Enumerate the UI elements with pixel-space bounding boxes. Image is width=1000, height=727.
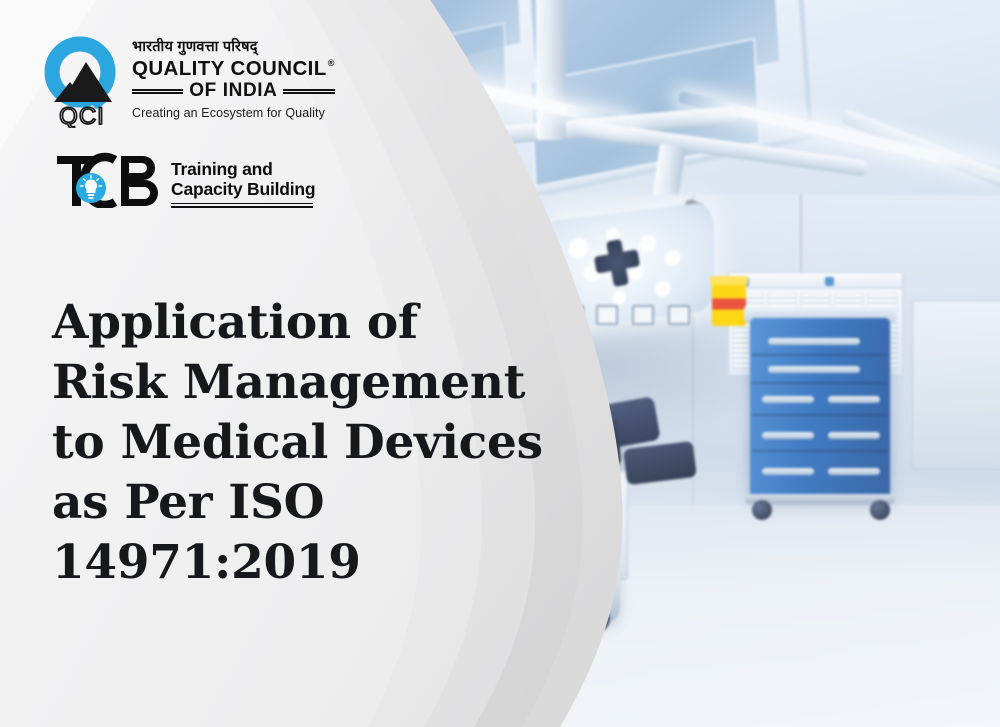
sharps-container — [712, 282, 746, 326]
title-line: to Medical Devices — [52, 413, 552, 473]
qci-logomark-icon: QCI — [44, 36, 120, 128]
wall-outlet — [596, 305, 618, 325]
qci-name-line1: QUALITY COUNCIL ® — [132, 58, 335, 80]
table-caster — [584, 606, 610, 632]
cart-drawer-handle — [828, 396, 880, 403]
cart-drawer-handle — [768, 366, 860, 373]
organizer-indicator — [825, 277, 834, 286]
tcb-rule — [171, 206, 313, 208]
qci-wordmark: भारतीय गुणवत्ता परिषद् QUALITY COUNCIL ®… — [132, 36, 335, 120]
tcb-wordmark: Training and Capacity Building — [171, 152, 315, 210]
qci-tagline: Creating an Ecosystem for Quality — [132, 106, 335, 120]
cart-drawer-separator — [752, 382, 888, 384]
course-banner: QCI भारतीय गुणवत्ता परिषद् QUALITY COUNC… — [0, 0, 1000, 727]
svg-text:QCI: QCI — [59, 103, 105, 128]
cart-drawer-separator — [752, 450, 888, 452]
qci-logo[interactable]: QCI भारतीय गुणवत्ता परिषद् QUALITY COUNC… — [44, 36, 335, 128]
cart-caster — [870, 500, 890, 520]
divider-left — [132, 89, 183, 94]
tcb-underline-rules — [171, 203, 313, 208]
title-line: Application of — [52, 293, 552, 353]
tcb-rule — [171, 203, 313, 205]
cart-drawer-handle — [762, 396, 814, 403]
cart-drawer-handle — [762, 432, 814, 439]
cart-drawer-handle — [828, 468, 880, 475]
page-title: Application of Risk Management to Medica… — [52, 293, 552, 593]
divider-right — [283, 89, 334, 94]
wall-outlet — [562, 305, 584, 325]
qci-hindi-name: भारतीय गुणवत्ता परिषद् — [132, 40, 335, 56]
iv-pole — [590, 470, 597, 530]
wall-outlet — [632, 305, 654, 325]
wall-outlet — [668, 305, 690, 325]
cart-drawer-separator — [752, 414, 888, 416]
tcb-text-line2: Capacity Building — [171, 179, 315, 199]
qci-name-text: QUALITY COUNCIL — [132, 58, 327, 80]
sharps-container-lid — [710, 276, 748, 285]
cart-drawer-handle — [828, 432, 880, 439]
qci-name-line2: OF INDIA — [132, 80, 335, 102]
tcb-logomark-icon — [55, 152, 165, 208]
cart-drawer-separator — [752, 354, 888, 356]
right-equipment — [912, 300, 1000, 470]
content-panel: QCI भारतीय गुणवत्ता परिषद् QUALITY COUNC… — [0, 0, 560, 727]
title-line: 14971:2019 — [52, 533, 552, 593]
cart-drawer-handle — [762, 468, 814, 475]
title-line: Risk Management — [52, 353, 552, 413]
cart-caster — [752, 500, 772, 520]
qci-india-text: OF INDIA — [189, 80, 277, 102]
cart-drawer-handle — [768, 338, 860, 345]
tcb-logo[interactable]: Training and Capacity Building — [55, 152, 315, 210]
registered-trademark-icon: ® — [328, 59, 335, 68]
tcb-text-line1: Training and — [171, 159, 315, 179]
title-line: as Per ISO — [52, 473, 552, 533]
